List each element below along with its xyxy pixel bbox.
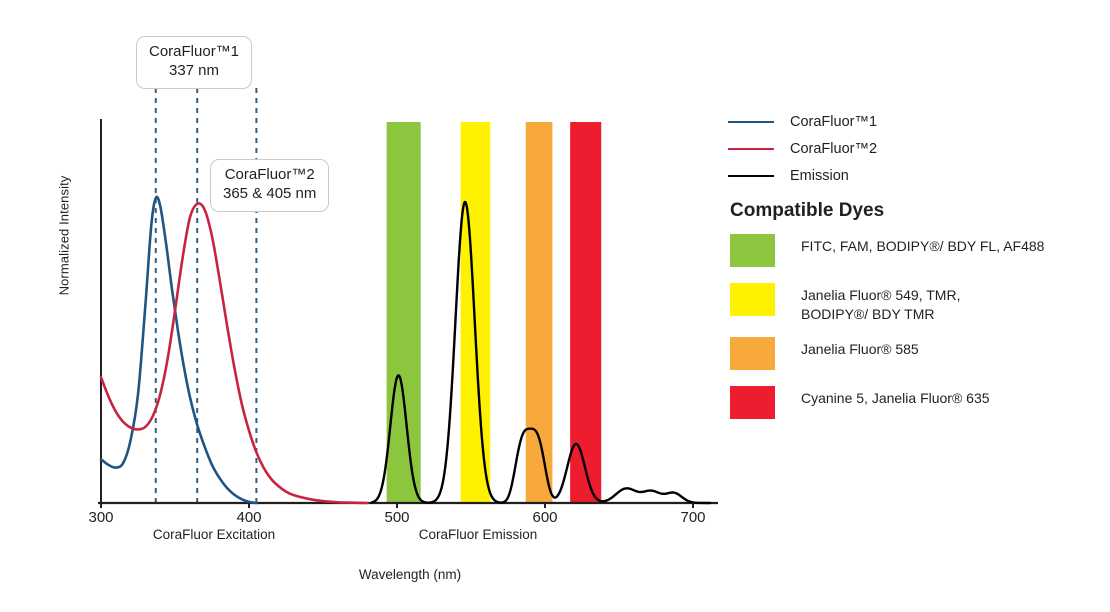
- dye-label-line1: Cyanine 5, Janelia Fluor® 635: [801, 390, 990, 406]
- dye-label: FITC, FAM, BODIPY®/ BDY FL, AF488: [801, 234, 1044, 256]
- legend-line-icon: [728, 175, 774, 177]
- callout-corafluor2: CoraFluor™2 365 & 405 nm: [210, 159, 329, 212]
- dye-label: Cyanine 5, Janelia Fluor® 635: [801, 386, 990, 408]
- y-axis-label: Normalized Intensity: [57, 146, 72, 326]
- dye-swatch-red: [730, 386, 775, 419]
- series-legend: CoraFluor™1 CoraFluor™2 Emission: [728, 108, 1110, 189]
- callout1-line2: 337 nm: [149, 62, 239, 81]
- x-tick-300: 300: [71, 509, 131, 526]
- dye-label-line1: FITC, FAM, BODIPY®/ BDY FL, AF488: [801, 238, 1044, 254]
- dye-label-line1: Janelia Fluor® 585: [801, 341, 919, 357]
- callout-corafluor1: CoraFluor™1 337 nm: [136, 36, 252, 89]
- compatible-dyes-list: FITC, FAM, BODIPY®/ BDY FL, AF488 Janeli…: [730, 234, 1110, 435]
- dye-swatch-orange: [730, 337, 775, 370]
- legend-item-corafluor2: CoraFluor™2: [728, 135, 1110, 162]
- callout1-line1: CoraFluor™1: [149, 43, 239, 60]
- legend-line-icon: [728, 121, 774, 123]
- compatible-dyes-title: Compatible Dyes: [730, 200, 884, 222]
- dye-swatch-yellow: [730, 283, 775, 316]
- x-tick-600: 600: [515, 509, 575, 526]
- x-tick-500: 500: [367, 509, 427, 526]
- dye-item: Janelia Fluor® 585: [730, 337, 1110, 370]
- x-axis-label: Wavelength (nm): [260, 567, 560, 582]
- chart-area: Normalized Intensity CoraFluor™1 337 nm …: [0, 0, 720, 612]
- dye-label-line1: Janelia Fluor® 549, TMR,: [801, 287, 960, 303]
- figure-root: Normalized Intensity CoraFluor™1 337 nm …: [0, 0, 1110, 612]
- dye-label: Janelia Fluor® 549, TMR, BODIPY®/ BDY TM…: [801, 283, 960, 323]
- legend-line-icon: [728, 148, 774, 150]
- legend-label: CoraFluor™2: [790, 141, 877, 157]
- legend-label: CoraFluor™1: [790, 114, 877, 130]
- sub-label-excitation: CoraFluor Excitation: [139, 527, 289, 542]
- callout2-line1: CoraFluor™2: [225, 166, 315, 183]
- dye-label-line2: BODIPY®/ BDY TMR: [801, 305, 960, 324]
- sub-label-emission: CoraFluor Emission: [403, 527, 553, 542]
- legend-item-emission: Emission: [728, 162, 1110, 189]
- callout2-line2: 365 & 405 nm: [223, 185, 316, 204]
- legend-item-corafluor1: CoraFluor™1: [728, 108, 1110, 135]
- dye-swatch-green: [730, 234, 775, 267]
- x-tick-400: 400: [219, 509, 279, 526]
- dye-item: FITC, FAM, BODIPY®/ BDY FL, AF488: [730, 234, 1110, 267]
- dye-label: Janelia Fluor® 585: [801, 337, 919, 359]
- dye-item: Janelia Fluor® 549, TMR, BODIPY®/ BDY TM…: [730, 283, 1110, 323]
- dye-item: Cyanine 5, Janelia Fluor® 635: [730, 386, 1110, 419]
- x-tick-700: 700: [663, 509, 723, 526]
- legend-label: Emission: [790, 168, 849, 184]
